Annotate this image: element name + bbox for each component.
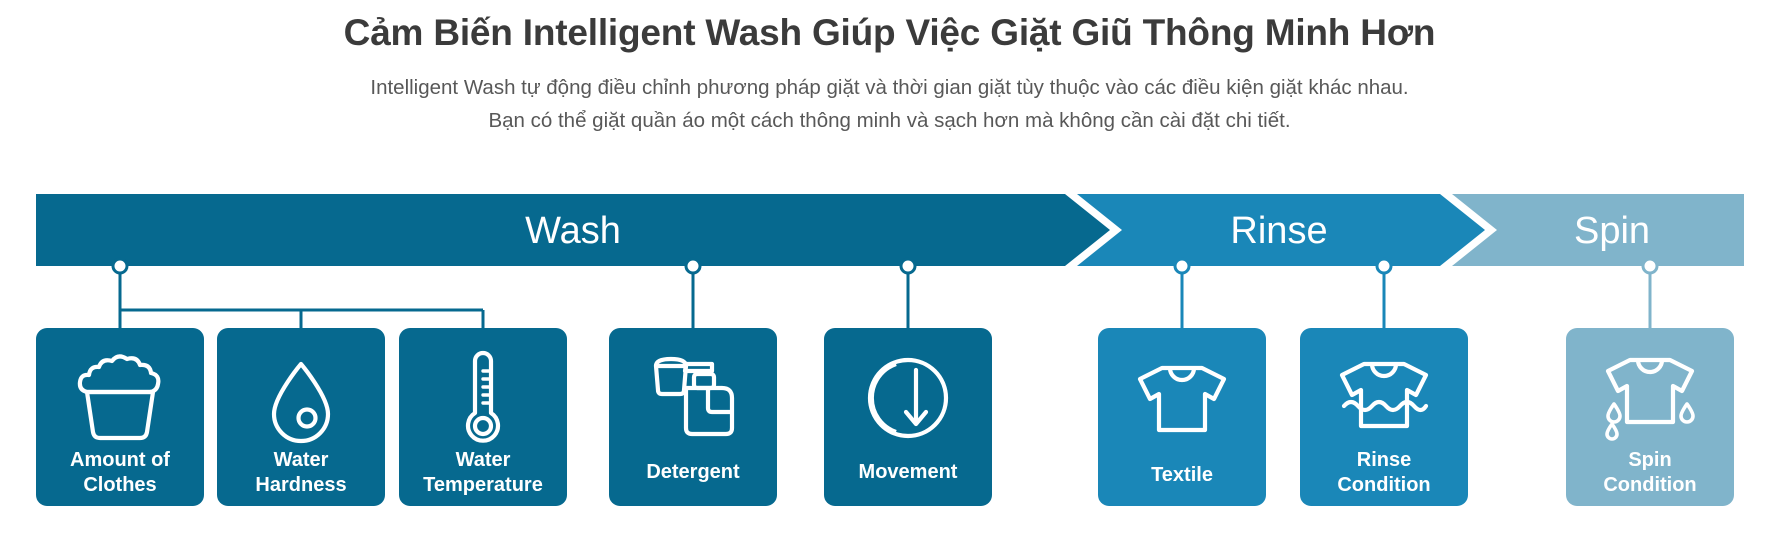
card-label-amount-of-clothes-line1: Amount of [70,449,170,471]
card-movement[interactable]: Movement [824,328,992,506]
subtitle-line-2: Bạn có thể giặt quần áo một cách thông m… [0,105,1779,138]
subtitle-line-1: Intelligent Wash tự động điều chỉnh phươ… [0,72,1779,105]
page-header: Cảm Biến Intelligent Wash Giúp Việc Giặt… [0,0,1779,138]
card-detergent[interactable]: Detergent [609,328,777,506]
phase-label-spin: Spin [1574,210,1650,252]
card-water-temperature[interactable]: Water Temperature [399,328,567,506]
phase-banner: Wash Rinse Spin [36,194,1744,266]
card-rinse-condition[interactable]: Rinse Condition [1300,328,1468,506]
intelligent-wash-diagram: Wash Rinse Spin Amount of Clothes Water … [0,176,1779,558]
card-label-spin-condition-line1: Spin [1628,449,1671,471]
connector-dot-movement [901,259,915,273]
connector-wash-group [120,270,483,328]
connector-dot-spin-condition [1643,259,1657,273]
card-label-spin-condition-line2: Condition [1603,474,1696,496]
card-label-rinse-condition-line2: Condition [1337,474,1430,496]
card-label-detergent: Detergent [646,461,740,483]
card-label-water-temperature-line2: Temperature [423,474,543,496]
card-spin-condition[interactable]: Spin Condition [1566,328,1734,506]
card-label-water-hardness-line1: Water [274,449,329,471]
card-textile[interactable]: Textile [1098,328,1266,506]
phase-label-wash: Wash [525,210,621,252]
card-amount-of-clothes[interactable]: Amount of Clothes [36,328,204,506]
card-label-movement: Movement [859,461,958,483]
connector-dot-rinse-condition [1377,259,1391,273]
connector-dot-wash-group [113,259,127,273]
connector-dot-textile [1175,259,1189,273]
connector-dot-detergent [686,259,700,273]
page-title: Cảm Biến Intelligent Wash Giúp Việc Giặt… [0,8,1779,58]
card-label-water-temperature-line1: Water [456,449,511,471]
page-subtitle: Intelligent Wash tự động điều chỉnh phươ… [0,72,1779,138]
card-label-water-hardness-line2: Hardness [255,474,346,496]
card-label-rinse-condition-line1: Rinse [1357,449,1411,471]
card-label-textile: Textile [1151,464,1213,486]
card-label-amount-of-clothes-line2: Clothes [83,474,156,496]
phase-label-rinse: Rinse [1230,210,1327,252]
card-water-hardness[interactable]: Water Hardness [217,328,385,506]
